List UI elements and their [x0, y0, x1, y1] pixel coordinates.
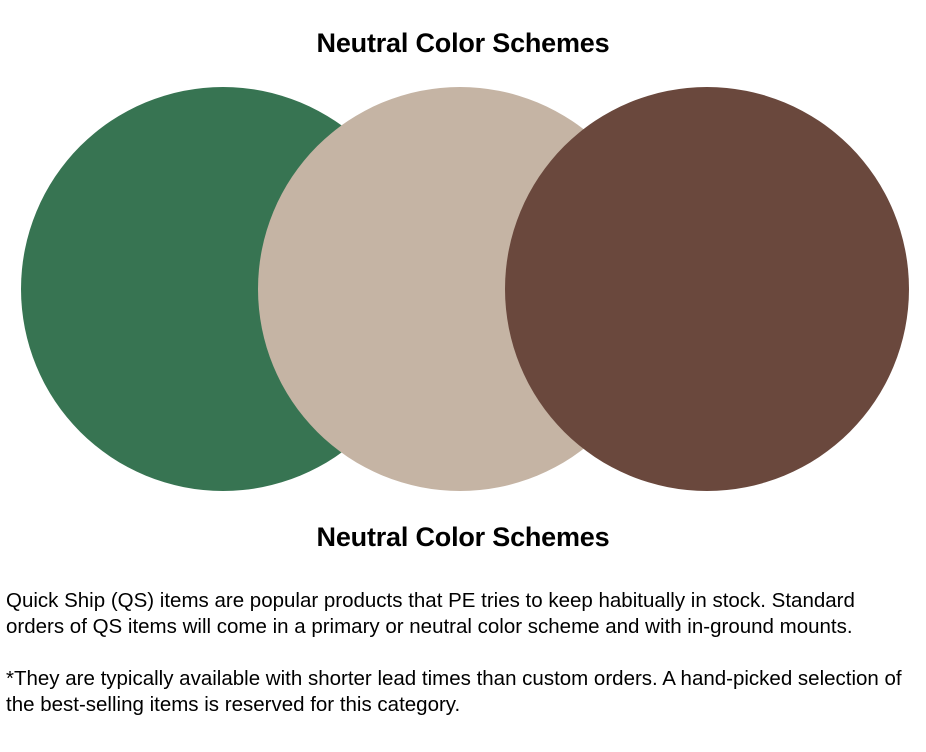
color-swatch-group [0, 87, 926, 492]
color-swatch-brown [505, 87, 909, 491]
body-copy: Quick Ship (QS) items are popular produc… [6, 588, 906, 718]
paragraph-lead-times-note: *They are typically available with short… [6, 666, 906, 718]
page-root: Neutral Color Schemes Neutral Color Sche… [0, 0, 926, 752]
section-heading: Neutral Color Schemes [0, 520, 926, 554]
paragraph-quick-ship-overview: Quick Ship (QS) items are popular produc… [6, 588, 906, 640]
page-title: Neutral Color Schemes [0, 26, 926, 60]
